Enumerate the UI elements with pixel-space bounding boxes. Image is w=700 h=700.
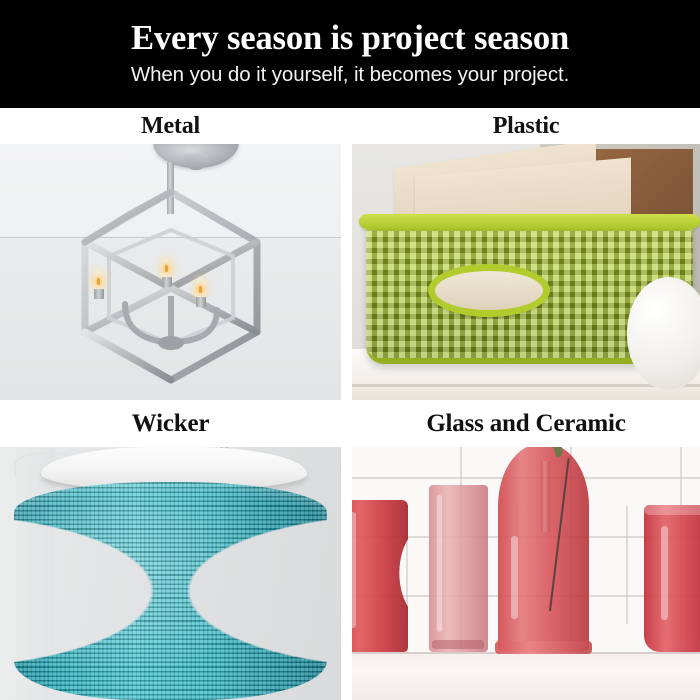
category-card-metal[interactable]: Metal	[0, 108, 341, 400]
red-flared-vase-left	[352, 500, 408, 652]
wicker-weave-pattern	[14, 482, 328, 700]
white-countertop	[352, 652, 700, 700]
category-label-glass-ceramic: Glass and Ceramic	[352, 404, 700, 444]
category-photo-glass-ceramic	[352, 447, 700, 700]
category-photo-plastic	[352, 144, 700, 400]
basket-rim	[359, 214, 699, 229]
candelabra-bulb-center	[160, 257, 173, 287]
candelabra-bulb-left	[92, 269, 105, 299]
basket-handle-cutout	[428, 264, 550, 317]
shelf-edge-line	[352, 384, 700, 387]
category-card-glass-ceramic[interactable]: Glass and Ceramic	[352, 404, 700, 700]
page-subtitle: When you do it yourself, it becomes your…	[0, 62, 700, 88]
header-banner: Every season is project season When you …	[0, 0, 700, 108]
decorative-branch	[549, 458, 570, 611]
red-tumbler-right	[644, 505, 700, 652]
promo-poster: Every season is project season When you …	[0, 0, 700, 700]
red-bell-decanter	[498, 447, 588, 652]
page-title: Every season is project season	[4, 18, 697, 58]
white-sphere-object	[627, 277, 700, 390]
branch-leaf	[552, 447, 564, 458]
wicker-stool-body	[14, 482, 328, 700]
category-label-metal: Metal	[0, 108, 341, 144]
category-photo-wicker	[0, 447, 341, 700]
decanter-foot	[495, 641, 592, 654]
category-label-plastic: Plastic	[352, 108, 700, 144]
category-card-plastic[interactable]: Plastic	[352, 108, 700, 400]
category-photo-metal	[0, 144, 341, 400]
category-card-wicker[interactable]: Wicker	[0, 404, 341, 700]
category-label-wicker: Wicker	[0, 404, 341, 444]
decanter-neck	[541, 461, 550, 532]
candelabra-arms	[111, 296, 231, 350]
pink-cylinder-vase	[429, 485, 488, 652]
